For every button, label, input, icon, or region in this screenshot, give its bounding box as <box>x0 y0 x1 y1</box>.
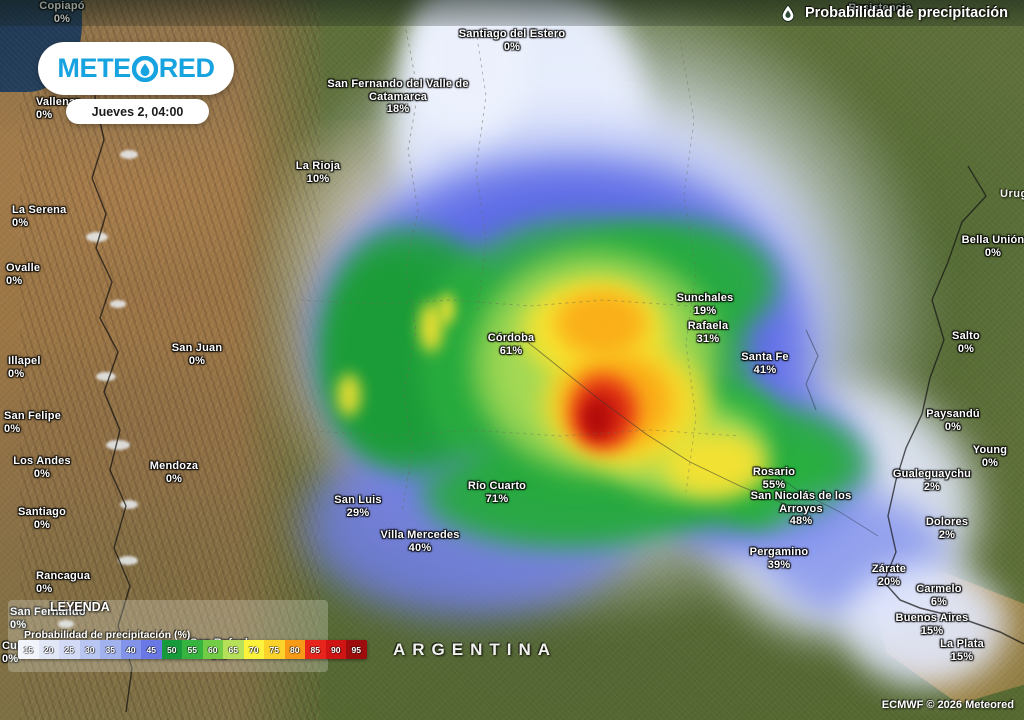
attribution-label: ECMWF © 2026 Meteored <box>882 699 1014 711</box>
legend-swatch[interactable]: 55 <box>182 640 203 659</box>
logo-text-after: RED <box>159 53 215 84</box>
country-label-uruguay: Urug <box>1000 188 1024 200</box>
legend-title: LEYENDA <box>50 600 110 614</box>
legend-swatch[interactable]: 40 <box>121 640 142 659</box>
legend-swatch[interactable]: 60 <box>203 640 224 659</box>
legend-color-scale[interactable]: 1520253035404550556065707580859095 <box>18 640 367 659</box>
water-drop-icon <box>780 4 796 22</box>
legend-swatch[interactable]: 65 <box>223 640 244 659</box>
legend-swatch[interactable]: 85 <box>305 640 326 659</box>
map-header-bar: Probabilidad de precipitación <box>0 0 1024 26</box>
coastline-rio-de-la-plata <box>884 582 1024 644</box>
legend-swatch[interactable]: 50 <box>162 640 183 659</box>
legend-swatch[interactable]: 20 <box>39 640 60 659</box>
meteored-logo[interactable]: METE RED <box>38 42 234 95</box>
legend-swatch[interactable]: 25 <box>59 640 80 659</box>
legend-swatch[interactable]: 75 <box>264 640 285 659</box>
legend-swatch[interactable]: 45 <box>141 640 162 659</box>
province-boundary <box>300 430 740 436</box>
logo-text-before: METE <box>57 53 130 84</box>
highway-line <box>520 336 790 506</box>
legend-swatch[interactable]: 95 <box>346 640 367 659</box>
province-boundary <box>476 30 486 310</box>
country-label-argentina: ARGENTINA <box>393 640 557 660</box>
logo-droplet-o-icon <box>132 56 158 82</box>
map-title: Probabilidad de precipitación <box>805 5 1008 21</box>
forecast-time-pill[interactable]: Jueves 2, 04:00 <box>66 99 209 124</box>
legend-swatch[interactable]: 30 <box>80 640 101 659</box>
province-boundary <box>680 40 696 492</box>
river-parana <box>806 330 818 410</box>
province-boundary <box>402 30 418 512</box>
border-uruguay-river <box>884 166 986 582</box>
forecast-time-label: Jueves 2, 04:00 <box>92 105 184 119</box>
legend-swatch[interactable]: 15 <box>18 640 39 659</box>
logo-wordmark: METE RED <box>57 53 214 84</box>
legend-swatch[interactable]: 70 <box>244 640 265 659</box>
weather-map-screen: Copiapó0%Vallenar0%La Serena0%Ovalle0%Il… <box>0 0 1024 720</box>
legend-swatch[interactable]: 90 <box>326 640 347 659</box>
river-parana-delta <box>770 470 878 536</box>
legend-swatch[interactable]: 35 <box>100 640 121 659</box>
legend-swatch[interactable]: 80 <box>285 640 306 659</box>
province-boundary <box>300 300 690 306</box>
